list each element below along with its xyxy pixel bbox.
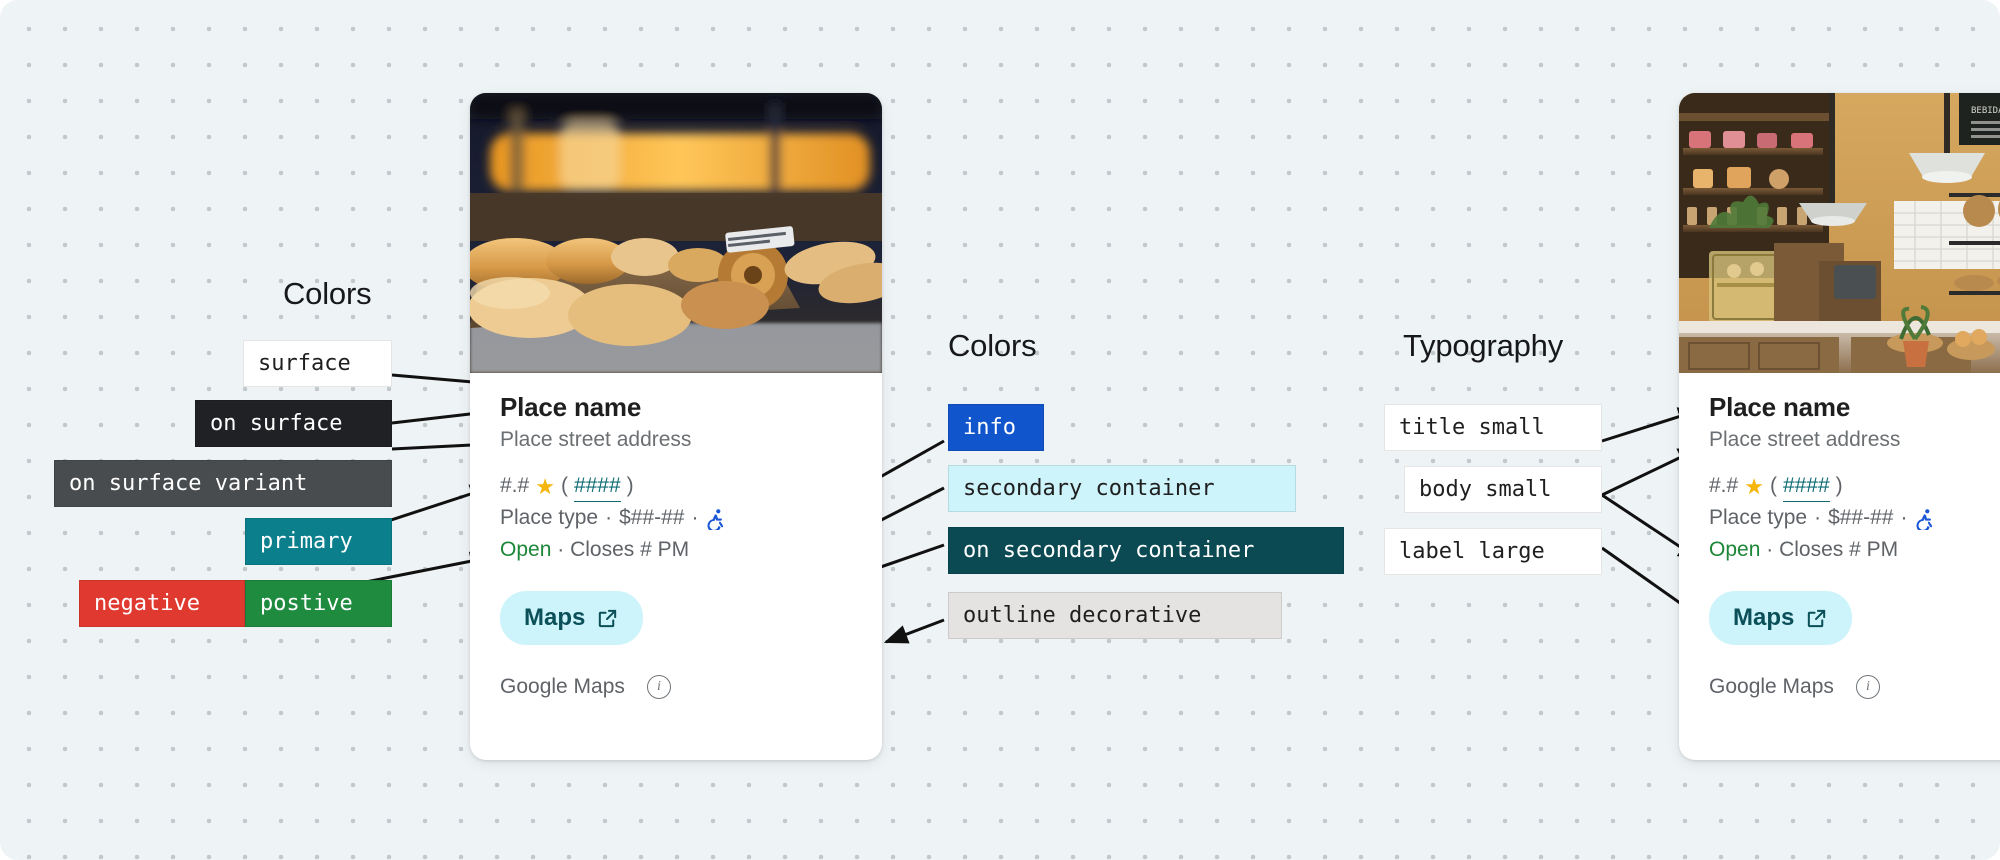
wheelchair-icon [705,508,727,530]
hours-separator: · [557,538,564,561]
color-chip-label: negative [94,591,200,616]
review-count-link[interactable]: #### [1783,471,1830,502]
place-rating-row: #.# ★ (####) [500,471,852,502]
place-card-body-right: Place name Place street address #.# ★ (#… [1679,373,2000,721]
place-closing-time: Closes # PM [570,538,689,561]
place-hours-row: Open · Closes # PM [500,535,852,565]
review-paren-open: ( [1770,471,1777,501]
type-chip-title-small[interactable]: title small [1384,404,1602,451]
place-closing-time: Closes # PM [1779,538,1898,561]
type-chip-body-small[interactable]: body small [1404,466,1602,513]
place-type: Place type [500,503,598,533]
meta-separator-2: · [1900,503,1907,533]
maps-button[interactable]: Maps [1709,591,1852,645]
place-name: Place name [500,391,852,424]
place-photo-bakery [470,93,882,373]
star-icon: ★ [1744,476,1764,498]
wheelchair-icon [1914,508,1936,530]
color-chip-on-secondary-container[interactable]: on secondary container [948,527,1344,574]
type-chip-label: body small [1419,477,1551,502]
place-type: Place type [1709,503,1807,533]
open-in-new-icon [1805,607,1828,630]
rating-value: #.# [500,471,529,501]
color-chip-on-surface-variant[interactable]: on surface variant [54,460,392,507]
info-icon[interactable]: i [647,675,671,699]
place-card-footer: Google Maps i [1709,675,2000,699]
color-chip-on-surface[interactable]: on surface [195,400,392,447]
color-chip-primary[interactable]: primary [245,518,392,565]
meta-separator-1: · [605,503,612,533]
section-title-colors-mid: Colors [948,328,1036,364]
color-chip-label: on secondary container [963,538,1254,563]
review-paren-open: ( [561,471,568,501]
place-address: Place street address [500,425,852,455]
type-chip-label: label large [1399,539,1545,564]
section-title-typography: Typography [1403,328,1563,364]
place-photo-cafe: BEBIDAS CA [1679,93,2000,373]
open-in-new-icon [596,607,619,630]
place-rating-row: #.# ★ (####) [1709,471,2000,502]
place-meta-row: Place type · $##-## · [500,503,852,533]
color-chip-surface[interactable]: surface [243,340,392,387]
type-chip-label-large[interactable]: label large [1384,528,1602,575]
color-chip-label: info [963,415,1016,440]
color-chip-label: on surface variant [69,471,307,496]
maps-button[interactable]: Maps [500,591,643,645]
color-chip-postive[interactable]: postive [245,580,392,627]
color-chip-label: primary [260,529,353,554]
review-paren-close: ) [627,471,634,501]
place-open-status: Open [1709,538,1760,561]
place-hours-row: Open · Closes # PM [1709,535,2000,565]
place-card-body-left: Place name Place street address #.# ★ (#… [470,373,882,721]
color-chip-label: outline decorative [963,603,1201,628]
place-price: $##-## [619,503,684,533]
star-icon: ★ [535,476,555,498]
rating-value: #.# [1709,471,1738,501]
color-chip-label: secondary container [963,476,1215,501]
place-meta-row: Place type · $##-## · [1709,503,2000,533]
maps-button-label: Maps [524,604,585,632]
place-card-footer: Google Maps i [500,675,852,699]
color-chip-info[interactable]: info [948,404,1044,451]
footer-provider-label: Google Maps [1709,675,1834,699]
place-price: $##-## [1828,503,1893,533]
svg-text:BEBIDAS CA: BEBIDAS CA [1971,106,2000,116]
section-title-colors-left: Colors [283,276,371,312]
hours-separator: · [1766,538,1773,561]
place-open-status: Open [500,538,551,561]
meta-separator-1: · [1814,503,1821,533]
meta-separator-2: · [691,503,698,533]
review-count-link[interactable]: #### [574,471,621,502]
place-card-left[interactable]: Place name Place street address #.# ★ (#… [470,93,882,760]
color-chip-label: postive [260,591,353,616]
place-name: Place name [1709,391,2000,424]
footer-provider-label: Google Maps [500,675,625,699]
review-paren-close: ) [1836,471,1843,501]
type-chip-label: title small [1399,415,1545,440]
color-chip-secondary-container[interactable]: secondary container [948,465,1296,512]
color-chip-label: surface [258,351,351,376]
maps-button-label: Maps [1733,604,1794,632]
color-chip-label: on surface [210,411,342,436]
info-icon[interactable]: i [1856,675,1880,699]
color-chip-negative[interactable]: negative [79,580,245,627]
place-card-right[interactable]: BEBIDAS CA [1679,93,2000,760]
design-canvas: Colors surface on surface on surface var… [0,0,2000,860]
place-address: Place street address [1709,425,2000,455]
color-chip-outline-decorative[interactable]: outline decorative [948,592,1282,639]
